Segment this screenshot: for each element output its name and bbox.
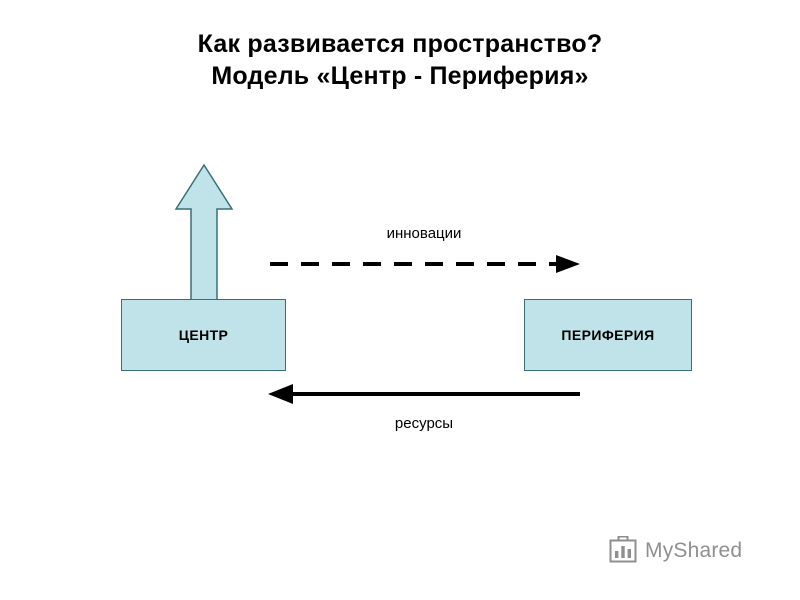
edge-label-innovations: инновации [268,225,580,242]
chart-bars-icon [608,536,638,566]
innovations-arrow-icon [268,250,580,278]
node-center-label: ЦЕНТР [179,327,229,343]
slide-canvas: Как развивается пространство? Модель «Це… [0,0,800,600]
watermark: MyShared [608,536,742,566]
growth-arrow-up-icon [172,161,236,307]
edge-label-resources: ресурсы [268,415,580,432]
node-periphery[interactable]: ПЕРИФЕРИЯ [524,299,692,371]
node-center[interactable]: ЦЕНТР [121,299,286,371]
resources-arrow-icon [268,380,580,408]
node-periphery-label: ПЕРИФЕРИЯ [561,327,654,343]
watermark-text: MyShared [645,539,742,563]
center-periphery-diagram: ЦЕНТР ПЕРИФЕРИЯ инновации ресурсы [0,0,800,600]
